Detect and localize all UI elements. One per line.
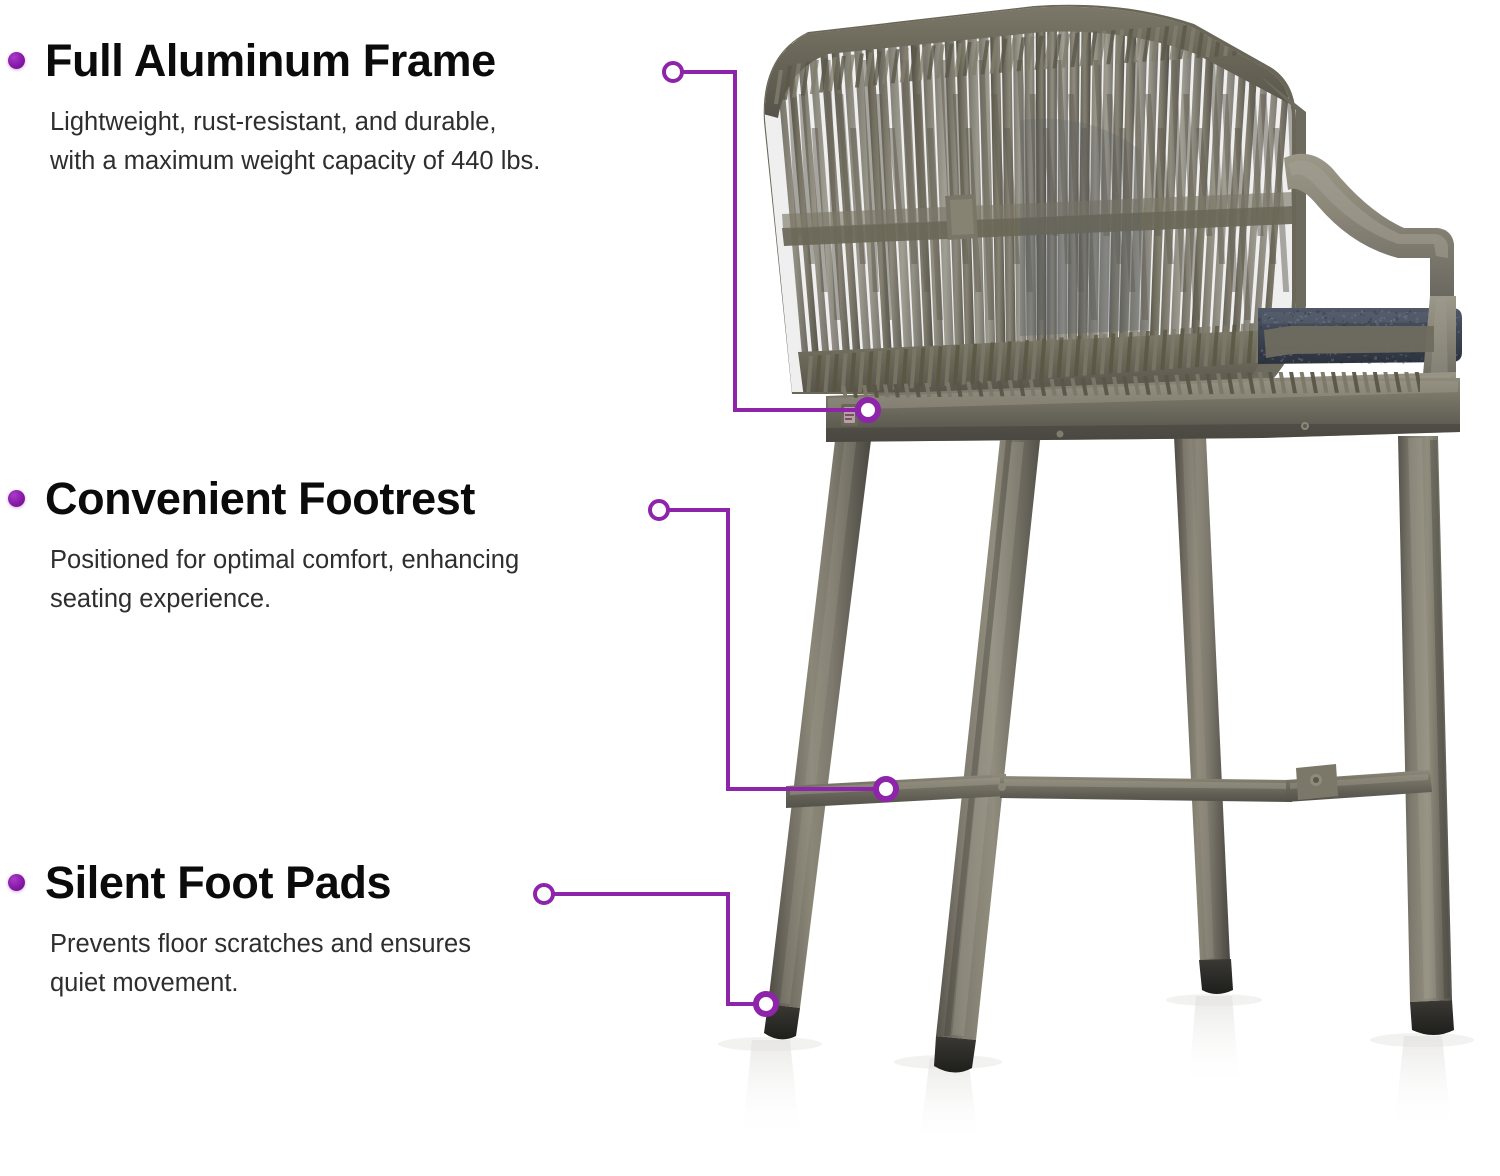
cushion-texture-speck bbox=[1293, 312, 1294, 314]
feature-description-line: with a maximum weight capacity of 440 lb… bbox=[50, 142, 540, 181]
cushion-texture-speck bbox=[1342, 321, 1344, 322]
cushion-texture-speck bbox=[1348, 356, 1350, 358]
feature-description: Positioned for optimal comfort, enhancin… bbox=[50, 541, 519, 619]
cushion-texture-speck bbox=[1284, 312, 1286, 314]
cushion-texture-speck bbox=[1368, 362, 1371, 364]
cushion-texture-speck bbox=[1375, 321, 1377, 324]
cushion-texture-speck bbox=[1347, 322, 1348, 324]
cushion-texture-speck bbox=[1390, 320, 1392, 323]
cushion-texture-speck bbox=[1458, 331, 1460, 333]
cushion-texture-speck bbox=[1396, 318, 1398, 320]
cushion-texture-speck bbox=[1354, 315, 1356, 317]
cushion-texture-speck bbox=[1326, 354, 1327, 355]
cushion-texture-speck bbox=[1404, 356, 1406, 357]
cushion-texture-speck bbox=[1323, 312, 1326, 315]
rope-wrap-tick bbox=[1259, 20, 1268, 54]
feature-title: Convenient Footrest bbox=[45, 476, 475, 521]
cushion-texture-speck bbox=[1291, 322, 1292, 324]
feature-description-line: Prevents floor scratches and ensures bbox=[50, 925, 471, 964]
cushion-texture-speck bbox=[1260, 326, 1262, 328]
infographic-canvas: Full Aluminum Frame Lightweight, rust-re… bbox=[0, 0, 1500, 1176]
feature-description-line: Positioned for optimal comfort, enhancin… bbox=[50, 541, 519, 580]
cushion-texture-speck bbox=[1404, 316, 1407, 318]
cushion-texture-speck bbox=[1361, 361, 1363, 364]
cushion-texture-speck bbox=[1403, 362, 1405, 364]
cushion-texture-speck bbox=[1394, 360, 1397, 363]
cushion-texture-speck bbox=[1305, 315, 1307, 317]
cushion-texture-speck bbox=[1288, 324, 1291, 327]
cushion-texture-speck bbox=[1404, 362, 1406, 363]
cushion-texture-speck bbox=[1267, 325, 1270, 327]
cushion-texture-speck bbox=[1407, 312, 1409, 313]
cushion-texture-speck bbox=[1292, 315, 1294, 316]
cushion-texture-speck bbox=[1322, 321, 1325, 323]
cushion-texture-speck bbox=[1306, 355, 1308, 356]
foot-pad-back-right bbox=[1199, 959, 1233, 994]
cushion-texture-speck bbox=[1278, 321, 1279, 323]
cushion-texture-speck bbox=[1409, 311, 1411, 313]
feature-description: Prevents floor scratches and ensures qui… bbox=[50, 925, 471, 1003]
cushion-texture-speck bbox=[1361, 310, 1363, 312]
cushion-texture-speck bbox=[1319, 311, 1321, 312]
feature-block-silent-foot-pads: Silent Foot Pads Prevents floor scratche… bbox=[8, 860, 471, 1003]
cushion-texture-speck bbox=[1289, 321, 1291, 323]
cushion-texture-speck bbox=[1422, 358, 1423, 360]
cushion-texture-speck bbox=[1302, 317, 1303, 319]
cushion-texture-speck bbox=[1310, 356, 1311, 357]
cushion-texture-speck bbox=[1364, 310, 1365, 312]
leg-back-left bbox=[764, 432, 872, 1039]
cushion-texture-speck bbox=[1263, 313, 1264, 315]
cushion-texture-speck bbox=[1396, 316, 1397, 318]
foot-pad-back-left bbox=[764, 1004, 800, 1039]
cushion-texture-speck bbox=[1399, 315, 1401, 317]
cushion-texture-speck bbox=[1322, 317, 1324, 319]
cushion-texture-speck bbox=[1413, 352, 1416, 354]
cushion-texture-speck bbox=[1380, 317, 1383, 318]
cushion-texture-speck bbox=[1406, 318, 1407, 320]
cushion-texture-speck bbox=[1271, 318, 1274, 319]
cushion-texture-speck bbox=[1390, 324, 1393, 326]
cushion-texture-speck bbox=[1368, 321, 1371, 323]
cushion-texture-speck bbox=[1295, 322, 1296, 324]
cushion-texture-speck bbox=[1300, 359, 1303, 361]
cushion-texture-speck bbox=[1309, 312, 1311, 313]
bullet-dot-icon bbox=[8, 874, 25, 891]
footrest-bar bbox=[786, 764, 1432, 808]
cushion-texture-speck bbox=[1265, 320, 1266, 321]
feature-description-line: Lightweight, rust-resistant, and durable… bbox=[50, 103, 540, 142]
cushion-texture-speck bbox=[1263, 354, 1266, 356]
cushion-texture-speck bbox=[1308, 361, 1310, 362]
cushion-texture-speck bbox=[1388, 311, 1389, 313]
cushion-texture-speck bbox=[1409, 321, 1412, 323]
cushion-texture-speck bbox=[1325, 317, 1327, 319]
cushion-texture-speck bbox=[1272, 358, 1274, 360]
cushion-texture-speck bbox=[1399, 314, 1401, 315]
cushion-texture-speck bbox=[1376, 323, 1378, 326]
rope-woven-backrest bbox=[740, 0, 1320, 400]
cushion-texture-speck bbox=[1264, 358, 1267, 360]
cushion-texture-speck bbox=[1333, 310, 1334, 312]
cushion-texture-speck bbox=[1353, 355, 1354, 357]
cushion-texture-speck bbox=[1375, 313, 1378, 315]
cushion-texture-speck bbox=[1284, 356, 1286, 357]
cushion-texture-speck bbox=[1363, 315, 1365, 316]
bullet-dot-icon bbox=[8, 490, 25, 507]
cushion-texture-speck bbox=[1332, 321, 1335, 323]
rope-wrap-tick bbox=[1277, 19, 1286, 53]
cushion-texture-speck bbox=[1387, 357, 1390, 358]
cushion-texture-speck bbox=[1354, 322, 1356, 323]
cushion-texture-speck bbox=[1324, 354, 1326, 356]
feature-heading-row: Silent Foot Pads bbox=[8, 860, 471, 905]
rope-wrap-tick bbox=[1250, 20, 1259, 54]
cushion-texture-speck bbox=[1319, 323, 1320, 324]
foot-pad-front-right bbox=[1410, 1000, 1454, 1035]
cushion-texture-speck bbox=[1393, 319, 1395, 321]
cushion-texture-speck bbox=[1361, 323, 1363, 324]
feature-heading-row: Full Aluminum Frame bbox=[8, 38, 540, 83]
cushion-texture-speck bbox=[1337, 311, 1339, 312]
cushion-texture-speck bbox=[1330, 354, 1331, 357]
bullet-dot-icon bbox=[8, 52, 25, 69]
leg-front-left bbox=[934, 440, 1040, 1073]
cushion-texture-speck bbox=[1284, 322, 1285, 323]
cushion-texture-speck bbox=[1392, 356, 1393, 358]
cushion-texture-speck bbox=[1457, 330, 1459, 331]
floor-reflection bbox=[718, 994, 1474, 1150]
leg-front-right bbox=[1398, 436, 1454, 1035]
cushion-texture-speck bbox=[1374, 357, 1377, 360]
feature-title: Silent Foot Pads bbox=[45, 860, 391, 905]
cushion-texture-speck bbox=[1333, 318, 1336, 320]
cushion-texture-speck bbox=[1382, 310, 1384, 312]
cushion-texture-speck bbox=[1381, 362, 1382, 365]
cushion-texture-speck bbox=[1406, 315, 1407, 317]
cushion-texture-speck bbox=[1258, 319, 1261, 321]
cushion-texture-speck bbox=[1456, 354, 1458, 356]
cushion-texture-speck bbox=[1384, 317, 1385, 319]
cushion-texture-speck bbox=[1374, 311, 1376, 313]
cushion-texture-speck bbox=[1297, 319, 1300, 321]
cushion-texture-speck bbox=[1282, 358, 1284, 360]
cushion-texture-speck bbox=[1384, 361, 1387, 363]
cushion-texture-speck bbox=[1369, 359, 1371, 362]
cushion-texture-speck bbox=[1395, 312, 1397, 314]
rope-wrap-tick bbox=[1286, 18, 1295, 52]
cushion-texture-speck bbox=[1353, 360, 1355, 362]
cushion-texture-speck bbox=[1328, 362, 1329, 364]
cushion-texture-speck bbox=[1270, 318, 1271, 320]
rope-wrap-tick bbox=[1241, 21, 1250, 55]
cushion-texture-speck bbox=[1458, 317, 1460, 318]
cushion-texture-speck bbox=[1347, 354, 1350, 356]
cushion-texture-speck bbox=[1380, 353, 1383, 355]
cushion-texture-speck bbox=[1360, 314, 1362, 316]
cushion-texture-speck bbox=[1364, 355, 1367, 356]
feature-title: Full Aluminum Frame bbox=[45, 38, 496, 83]
cushion-texture-speck bbox=[1289, 312, 1290, 314]
cushion-texture-speck bbox=[1308, 313, 1310, 315]
cushion-texture-speck bbox=[1385, 324, 1387, 326]
rope-wrap-tick bbox=[1268, 19, 1277, 53]
cushion-texture-speck bbox=[1300, 316, 1303, 318]
foot-pad-front-left bbox=[934, 1036, 976, 1073]
cushion-texture-speck bbox=[1296, 310, 1299, 312]
feature-block-convenient-footrest: Convenient Footrest Positioned for optim… bbox=[8, 476, 519, 619]
feature-description-line: quiet movement. bbox=[50, 964, 471, 1003]
cushion-texture-speck bbox=[1416, 322, 1419, 323]
cushion-texture-speck bbox=[1328, 321, 1330, 323]
cushion-texture-speck bbox=[1260, 329, 1261, 330]
cushion-texture-speck bbox=[1410, 352, 1413, 354]
cushion-texture-speck bbox=[1300, 356, 1303, 358]
cushion-texture-speck bbox=[1316, 319, 1318, 321]
cushion-texture-speck bbox=[1405, 355, 1406, 357]
cushion-texture-speck bbox=[1265, 316, 1266, 317]
cushion-texture-speck bbox=[1409, 359, 1412, 361]
feature-description-line: seating experience. bbox=[50, 580, 519, 619]
feature-heading-row: Convenient Footrest bbox=[8, 476, 519, 521]
cushion-texture-speck bbox=[1370, 318, 1372, 320]
cushion-texture-speck bbox=[1457, 355, 1460, 357]
cushion-texture-speck bbox=[1456, 317, 1458, 318]
cushion-texture-speck bbox=[1304, 312, 1306, 315]
feature-description: Lightweight, rust-resistant, and durable… bbox=[50, 103, 540, 181]
cushion-texture-speck bbox=[1300, 320, 1303, 321]
cushion-texture-speck bbox=[1340, 361, 1343, 363]
cushion-texture-speck bbox=[1400, 354, 1403, 355]
cushion-texture-speck bbox=[1407, 313, 1408, 315]
cushion-texture-speck bbox=[1414, 356, 1415, 358]
cushion-texture-speck bbox=[1416, 318, 1418, 321]
cushion-texture-speck bbox=[1274, 321, 1276, 324]
cushion-texture-speck bbox=[1351, 317, 1353, 319]
cushion-texture-speck bbox=[1381, 359, 1383, 361]
cushion-texture-speck bbox=[1260, 355, 1261, 356]
cushion-texture-speck bbox=[1387, 360, 1390, 362]
leg-back-right bbox=[1174, 436, 1233, 994]
cushion-texture-speck bbox=[1293, 360, 1294, 363]
cushion-texture-speck bbox=[1331, 359, 1334, 362]
cushion-texture-speck bbox=[1414, 312, 1416, 313]
cushion-texture-speck bbox=[1261, 349, 1263, 352]
cushion-texture-speck bbox=[1342, 316, 1345, 317]
cushion-texture-speck bbox=[1379, 320, 1382, 321]
feature-block-full-aluminum-frame: Full Aluminum Frame Lightweight, rust-re… bbox=[8, 38, 540, 181]
